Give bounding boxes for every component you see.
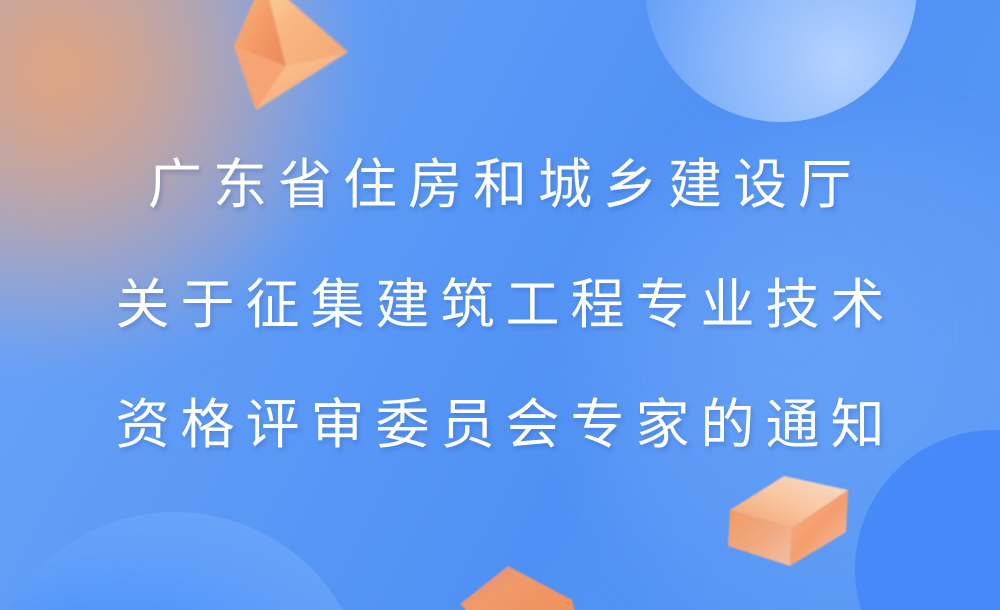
notice-banner: 广东省住房和城乡建设厅 关于征集建筑工程专业技术 资格评审委员会专家的通知: [0, 0, 1000, 610]
headline-line-3: 资格评审委员会专家的通知: [105, 365, 896, 485]
headline-line-1: 广东省住房和城乡建设厅: [137, 125, 863, 245]
headline-line-2: 关于征集建筑工程专业技术: [105, 245, 896, 365]
banner-headline: 广东省住房和城乡建设厅 关于征集建筑工程专业技术 资格评审委员会专家的通知: [0, 0, 1000, 610]
